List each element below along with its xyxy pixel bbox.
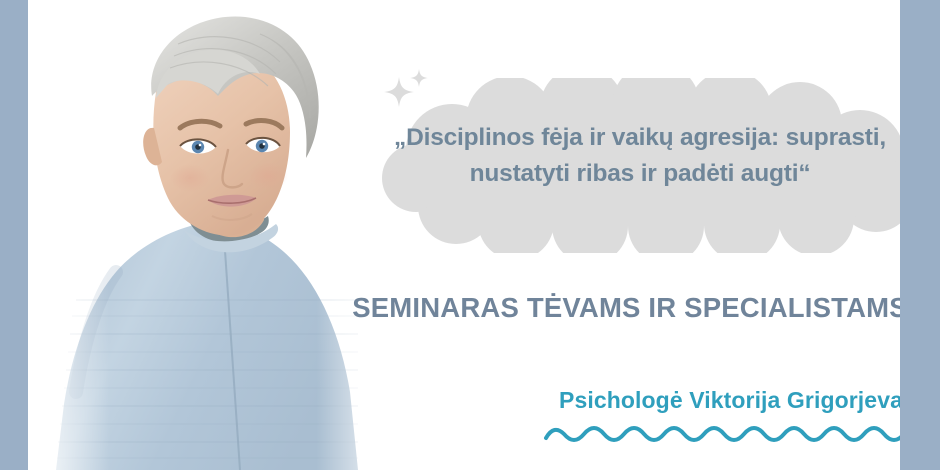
headline-text: SEMINARAS TĖVAMS IR SPECIALISTAMS [350, 292, 910, 324]
cloud-quote-line-2: nustatyti ribas ir padėti augti“ [394, 156, 886, 192]
cloud-quote-line-1: „Disciplinos fėja ir vaikų agresija: sup… [394, 120, 886, 156]
poster-canvas: „Disciplinos fėja ir vaikų agresija: sup… [0, 0, 940, 470]
portrait-illustration [28, 0, 398, 470]
cloud-quote: „Disciplinos fėja ir vaikų agresija: sup… [394, 120, 886, 191]
speaker-name: Psichologė Viktorija Grigorjeva [536, 387, 926, 414]
quote-cloud: „Disciplinos fėja ir vaikų agresija: sup… [360, 78, 920, 253]
left-accent-bar [0, 0, 29, 470]
right-accent-bar [900, 0, 940, 470]
speaker-photo [28, 0, 398, 470]
sparkle-top-left-small-icon [410, 69, 428, 87]
sparkle-bottom-right-small-icon [873, 217, 887, 231]
wavy-underline [540, 418, 932, 450]
